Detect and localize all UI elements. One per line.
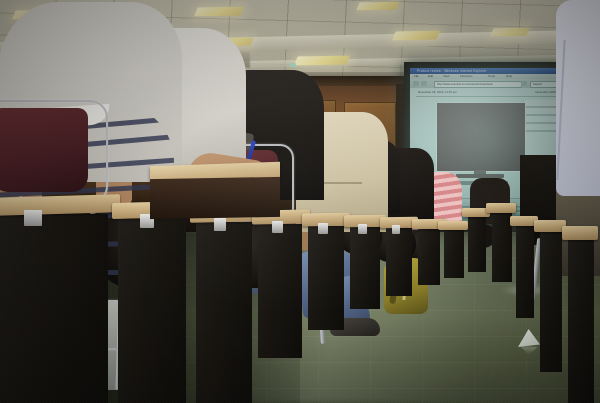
sidebar-line [526, 114, 556, 116]
ceiling-light-panel [294, 56, 350, 66]
desk-carrel-divider [308, 226, 344, 330]
back-icon[interactable] [413, 81, 419, 86]
desk-carrel-divider [492, 212, 512, 282]
desk-clip [358, 224, 367, 234]
desk-top [438, 221, 468, 230]
desk-top [0, 194, 120, 216]
forward-icon[interactable] [421, 81, 427, 86]
indicator-light-icon [290, 63, 296, 67]
desk-top [486, 203, 516, 213]
desk-top [562, 226, 598, 240]
go-button[interactable] [521, 81, 527, 86]
product-image-television [436, 102, 526, 172]
ceiling-light-panel [356, 2, 400, 11]
shirt-seam [322, 182, 362, 184]
address-bar-value: http://www.example.com/review/lcd-televi… [437, 82, 519, 88]
desk-clip [318, 223, 328, 234]
page-date: November 28, 2010, 11:45 pm [418, 90, 457, 94]
desk-clip [392, 225, 400, 234]
desk-carrel-divider [350, 227, 380, 309]
desk-carrel-divider [540, 232, 562, 372]
desk-carrel-divider [418, 229, 440, 285]
desk-clip [214, 218, 226, 231]
sidebar-line [526, 130, 556, 132]
search-placeholder: Search [533, 82, 542, 88]
desk-carrel-divider [444, 230, 464, 278]
desk-carrel-divider [118, 218, 186, 403]
ceiling-light-panel [392, 31, 440, 41]
page-divider [416, 96, 558, 97]
sidebar-heading: November 2010 [535, 90, 556, 94]
desk-carrel-divider [196, 222, 252, 403]
desk-front-panel [150, 177, 280, 219]
desk-carrel-divider [386, 228, 412, 296]
ceiling-light-panel [490, 28, 529, 37]
desk-carrel-divider [0, 214, 108, 403]
sidebar-line [526, 122, 556, 124]
sidebar-line [526, 106, 556, 108]
desk-carrel-divider [258, 224, 302, 358]
classroom-photo: Product review - Windows Internet Explor… [0, 0, 600, 403]
desk-clip [24, 210, 42, 226]
desk-carrel-divider [516, 226, 534, 318]
desk-carrel-divider [468, 216, 486, 272]
chair-frame [0, 100, 108, 204]
ceiling-light-panel [194, 7, 244, 17]
desk-clip [272, 221, 283, 233]
desk-carrel-divider [568, 240, 594, 403]
